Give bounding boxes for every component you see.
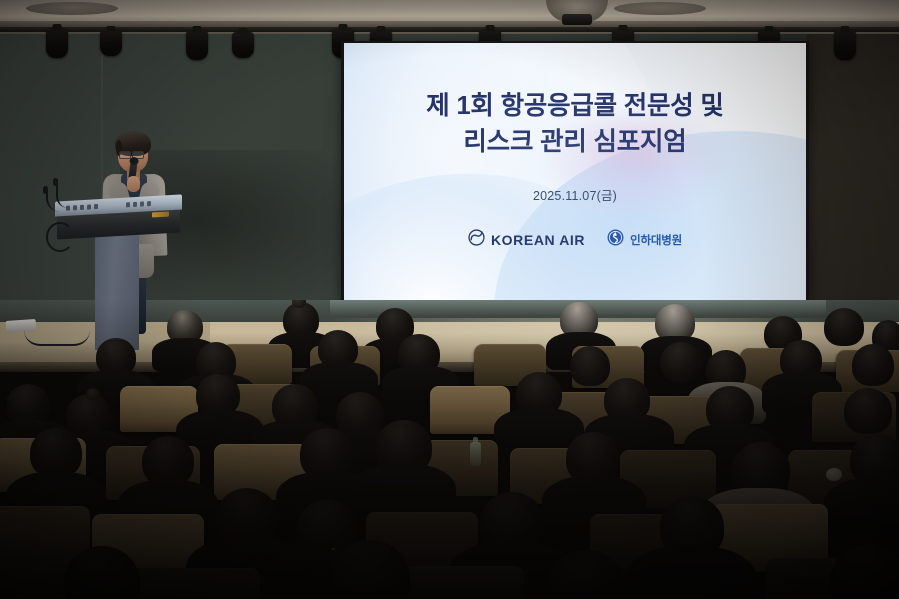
podium-cable-loop [46,222,74,252]
ceiling-vent-left [26,2,118,15]
inha-hospital-badge-icon [607,229,624,251]
slide-date: 2025.11.07(금) [533,185,617,204]
slide-title-line-1: 제 1회 항공응급콜 전문성 및 [426,88,723,124]
korean-air-logo: KOREAN AIR [468,229,585,251]
inha-hospital-logo: 인하대병원 [607,229,682,251]
ceiling-spotlight-icon [232,32,254,58]
ceiling-vent-right [614,2,706,15]
slide-title-line-2: 리스크 관리 심포지엄 [426,124,723,160]
ceiling-spotlight-icon [46,28,68,58]
auditorium-right-wall [806,30,899,312]
speaker-hand [127,176,140,192]
auditorium-photograph: 제 1회 항공응급콜 전문성 및 리스크 관리 심포지엄 2025.11.07(… [0,0,899,599]
korean-air-wordmark: KOREAN AIR [491,232,585,248]
podium-mic-capsule-left [53,178,58,186]
projection-screen: 제 1회 항공응급콜 전문성 및 리스크 관리 심포지엄 2025.11.07(… [344,43,806,300]
podium-indicator-light [152,212,169,218]
audience-area [0,300,899,599]
ceiling-spotlight-icon [100,30,122,56]
ceiling-spotlight-icon [834,30,856,60]
audience-darkness-overlay [0,300,899,599]
slide-content: 제 1회 항공응급콜 전문성 및 리스크 관리 심포지엄 2025.11.07(… [344,43,806,300]
ceiling-spotlight-icon [186,30,208,60]
inha-hospital-wordmark: 인하대병원 [630,232,682,248]
korean-air-taegeuk-icon [468,229,485,251]
podium-mic-capsule-right [43,186,48,194]
slide-title: 제 1회 항공응급콜 전문성 및 리스크 관리 심포지엄 [426,88,723,160]
slide-logo-row: KOREAN AIR 인하대병원 [468,229,682,251]
